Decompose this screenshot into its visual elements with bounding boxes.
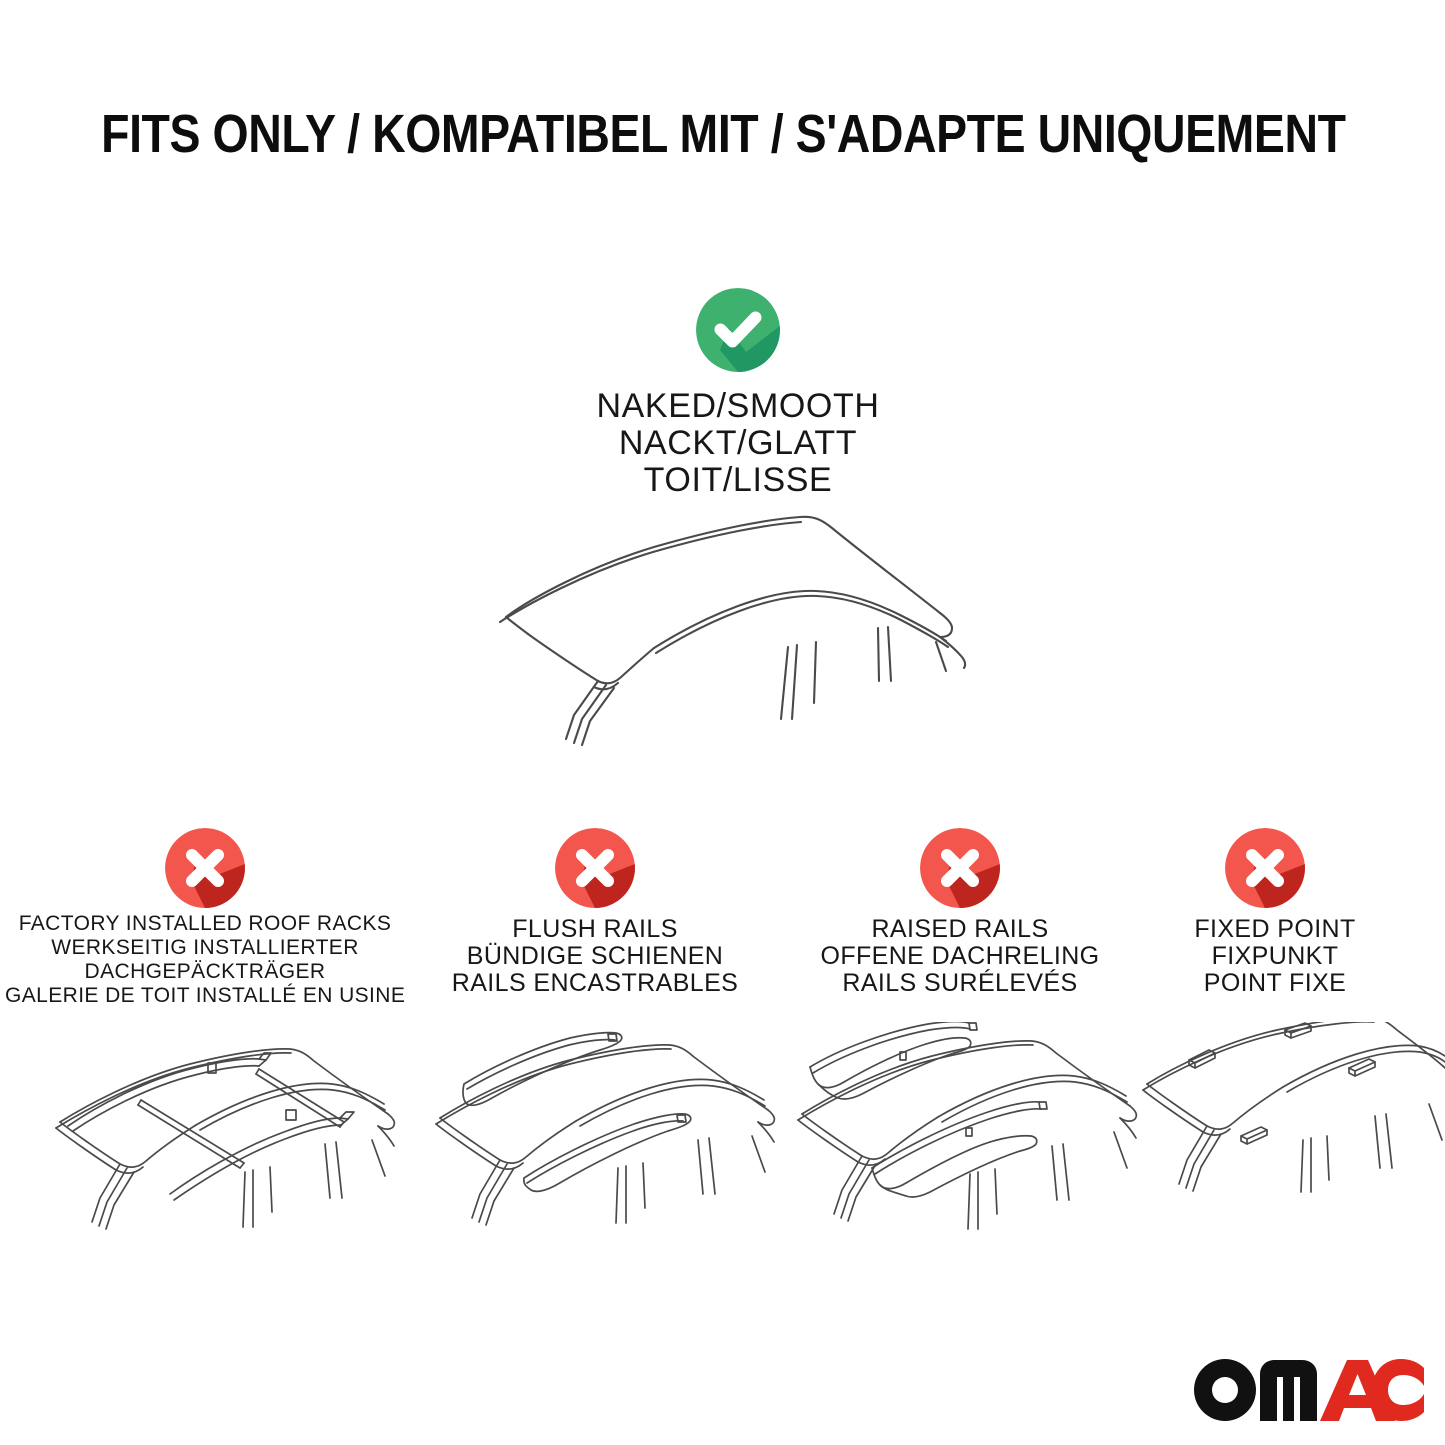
cross-circle-icon (165, 828, 245, 908)
label-line-3: RAILS ENCASTRABLES (415, 970, 775, 997)
label-line-3: DACHGEPÄCKTRÄGER (5, 960, 405, 984)
label-line-2: OFFENE DACHRELING (780, 943, 1140, 970)
check-circle-icon (696, 288, 780, 372)
compatible-label-line-1: NAKED/SMOOTH (488, 388, 988, 425)
label-line-1: FIXED POINT (1115, 916, 1435, 943)
label-line-1: RAISED RAILS (780, 916, 1140, 943)
factory-roof-rack-illustration (40, 1022, 400, 1247)
logo-letter-m (1260, 1360, 1317, 1421)
label-line-1: FACTORY INSTALLED ROOF RACKS (5, 912, 405, 936)
compatible-label-line-3: TOIT/LISSE (488, 462, 988, 499)
cross-circle-icon (920, 828, 1000, 908)
label-line-3: POINT FIXE (1115, 970, 1435, 997)
label-line-2: WERKSEITIG INSTALLIERTER (5, 936, 405, 960)
compatibility-infographic: FITS ONLY / KOMPATIBEL MIT / S'ADAPTE UN… (0, 0, 1445, 1445)
label-line-1: FLUSH RAILS (415, 916, 775, 943)
incompatible-label-factory-racks: FACTORY INSTALLED ROOF RACKS WERKSEITIG … (5, 912, 405, 1008)
fixed-point-illustration (1135, 1022, 1445, 1247)
omac-logo (1192, 1352, 1424, 1426)
logo-letter-c (1372, 1359, 1424, 1421)
incompatible-label-fixed-point: FIXED POINT FIXPUNKT POINT FIXE (1115, 916, 1435, 997)
incompatible-label-flush-rails: FLUSH RAILS BÜNDIGE SCHIENEN RAILS ENCAS… (415, 916, 775, 997)
label-line-3: RAILS SURÉLEVÉS (780, 970, 1140, 997)
page-title: FITS ONLY / KOMPATIBEL MIT / S'ADAPTE UN… (101, 104, 1344, 164)
cross-circle-icon (1225, 828, 1305, 908)
incompatible-label-raised-rails: RAISED RAILS OFFENE DACHRELING RAILS SUR… (780, 916, 1140, 997)
label-line-4: GALERIE DE TOIT INSTALLÉ EN USINE (5, 984, 405, 1008)
logo-letter-o (1194, 1359, 1256, 1421)
compatible-label: NAKED/SMOOTH NACKT/GLATT TOIT/LISSE (488, 388, 988, 499)
flush-rails-illustration (420, 1022, 780, 1247)
label-line-2: BÜNDIGE SCHIENEN (415, 943, 775, 970)
cross-circle-icon (555, 828, 635, 908)
compatible-label-line-2: NACKT/GLATT (488, 425, 988, 462)
bare-smooth-roof-illustration (470, 495, 1010, 750)
raised-rails-illustration (780, 1022, 1140, 1247)
label-line-2: FIXPUNKT (1115, 943, 1435, 970)
